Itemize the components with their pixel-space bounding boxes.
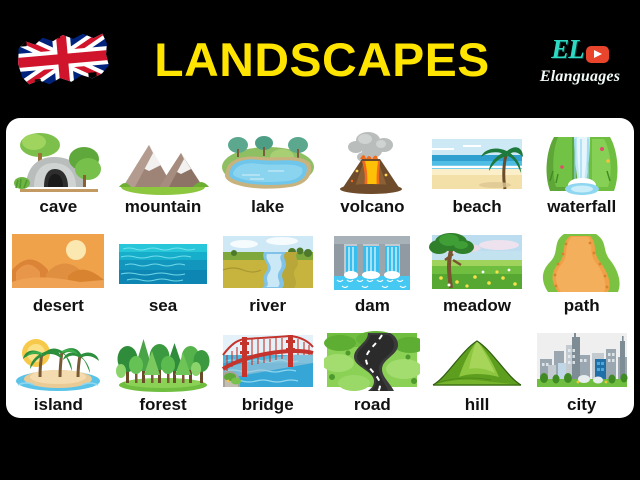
vocab-label: cave (39, 198, 77, 217)
vocab-item-hill[interactable]: hill (425, 319, 530, 418)
vocab-label: mountain (125, 198, 202, 217)
youtube-play-icon (586, 46, 609, 63)
vocab-item-desert[interactable]: desert (6, 219, 111, 318)
vocab-item-river[interactable]: river (215, 219, 320, 318)
bridge-icon (220, 329, 316, 395)
road-icon (324, 329, 420, 395)
vocab-label: island (34, 396, 83, 415)
vocab-label: city (567, 396, 596, 415)
waterfall-icon (534, 131, 630, 197)
vocab-item-mountain[interactable]: mountain (111, 120, 216, 219)
vocab-item-bridge[interactable]: bridge (215, 319, 320, 418)
vocab-label: hill (465, 396, 490, 415)
vocab-item-beach[interactable]: beach (425, 120, 530, 219)
vocab-label: beach (452, 198, 501, 217)
vocab-label: path (564, 297, 600, 316)
mountain-icon (115, 131, 211, 197)
elanguages-logo[interactable]: EL Elanguages (526, 22, 634, 96)
vocab-item-road[interactable]: road (320, 319, 425, 418)
vocab-item-meadow[interactable]: meadow (425, 219, 530, 318)
vocab-item-forest[interactable]: forest (111, 319, 216, 418)
dam-icon (324, 230, 420, 296)
logo-initials: EL (551, 34, 584, 65)
path-icon (534, 230, 630, 296)
vocab-item-island[interactable]: island (6, 319, 111, 418)
vocab-label: bridge (242, 396, 294, 415)
lake-icon (220, 131, 316, 197)
vocab-label: river (249, 297, 286, 316)
vocab-label: road (354, 396, 391, 415)
cave-icon (10, 131, 106, 197)
forest-icon (115, 329, 211, 395)
sea-icon (115, 230, 211, 296)
desert-icon (10, 230, 106, 296)
vocab-item-waterfall[interactable]: waterfall (529, 120, 634, 219)
vocab-row: island (6, 319, 634, 418)
header-bar: LANDSCAPES EL Elanguages (0, 0, 640, 118)
logo-wordmark: Elanguages (540, 68, 620, 86)
vocab-label: volcano (340, 198, 404, 217)
meadow-icon (429, 230, 525, 296)
vocab-item-lake[interactable]: lake (215, 120, 320, 219)
river-icon (220, 230, 316, 296)
vocab-label: sea (149, 297, 177, 316)
vocab-label: lake (251, 198, 284, 217)
volcano-icon (324, 131, 420, 197)
vocab-label: waterfall (547, 198, 616, 217)
vocabulary-card: cave mountain (6, 118, 634, 418)
vocab-row: desert se (6, 219, 634, 318)
vocab-label: dam (355, 297, 390, 316)
vocab-label: forest (139, 396, 186, 415)
vocab-item-path[interactable]: path (529, 219, 634, 318)
hill-icon (429, 329, 525, 395)
vocab-item-sea[interactable]: sea (111, 219, 216, 318)
vocab-item-city[interactable]: city (529, 319, 634, 418)
vocab-item-cave[interactable]: cave (6, 120, 111, 219)
uk-flag-icon (8, 24, 118, 94)
footer-bar (0, 418, 640, 480)
beach-icon (429, 131, 525, 197)
city-icon (534, 329, 630, 395)
island-icon (10, 329, 106, 395)
vocab-row: cave mountain (6, 120, 634, 219)
vocab-item-dam[interactable]: dam (320, 219, 425, 318)
vocab-label: desert (33, 297, 84, 316)
page-title: LANDSCAPES (114, 36, 530, 83)
vocab-label: meadow (443, 297, 511, 316)
vocab-item-volcano[interactable]: volcano (320, 120, 425, 219)
